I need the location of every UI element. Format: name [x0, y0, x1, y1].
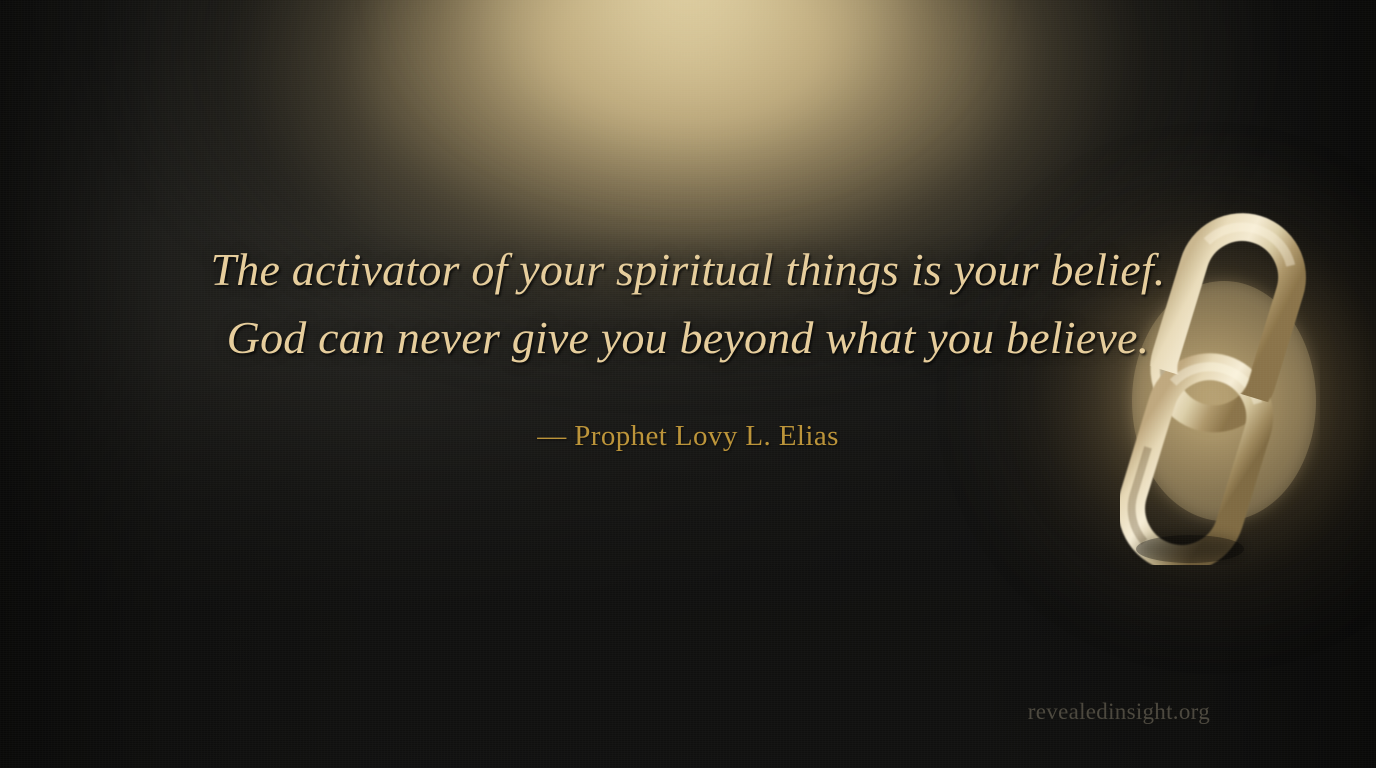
quote-block: The activator of your spiritual things i… [0, 236, 1376, 453]
quote-attribution: — Prophet Lovy L. Elias [0, 372, 1376, 453]
quote-card: The activator of your spiritual things i… [0, 0, 1376, 768]
site-watermark: revealedinsight.org [1028, 699, 1210, 725]
quote-text: The activator of your spiritual things i… [43, 236, 1333, 372]
